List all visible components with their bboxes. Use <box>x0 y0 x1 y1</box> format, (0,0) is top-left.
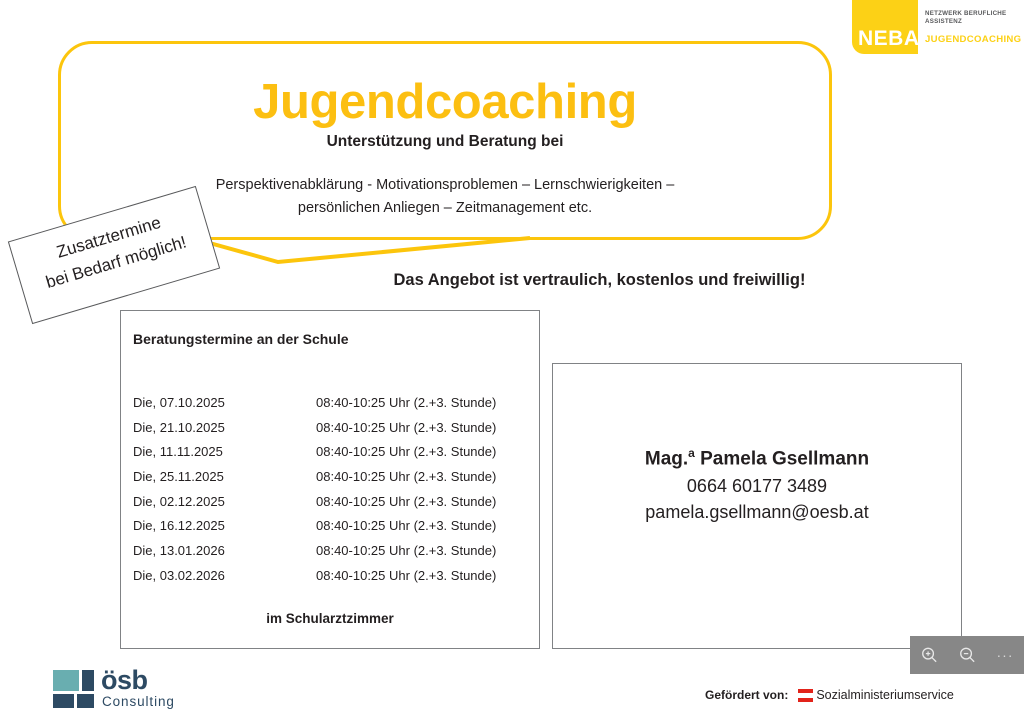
funding-org-name: Sozialministeriumservice <box>816 688 954 702</box>
more-options-button[interactable]: ··· <box>986 636 1024 674</box>
appointment-day: Die, 11.11.2025 <box>121 444 316 459</box>
document-page: NEBA NETZWERK BERUFLICHE ASSISTENZ JUGEN… <box>0 0 1024 716</box>
osb-square-navy-bottom-right <box>77 694 94 708</box>
osb-square-navy-top-right <box>82 670 94 691</box>
appointment-day: Die, 07.10.2025 <box>121 395 316 410</box>
appointment-time: 08:40-10:25 Uhr (2.+3. Stunde) <box>316 420 539 435</box>
appointment-time: 08:40-10:25 Uhr (2.+3. Stunde) <box>316 395 539 410</box>
table-row: Die, 21.10.2025 08:40-10:25 Uhr (2.+3. S… <box>121 415 539 440</box>
funding-notice: Gefördert von: Sozialministeriumservice <box>705 688 954 702</box>
appointment-time: 08:40-10:25 Uhr (2.+3. Stunde) <box>316 444 539 459</box>
appointments-title: Beratungstermine an der Schule <box>133 331 349 347</box>
contact-box: Mag.a Pamela Gsellmann 0664 60177 3489 p… <box>552 363 962 649</box>
neba-program-label: JUGENDCOACHING <box>925 35 1024 45</box>
osb-square-teal <box>53 670 79 691</box>
appointment-day: Die, 25.11.2025 <box>121 469 316 484</box>
contact-details: Mag.a Pamela Gsellmann 0664 60177 3489 p… <box>553 445 961 525</box>
appointment-time: 08:40-10:25 Uhr (2.+3. Stunde) <box>316 494 539 509</box>
contact-name-prefix: Mag. <box>645 448 688 469</box>
contact-name-main: Pamela Gsellmann <box>695 448 869 469</box>
osb-squares-icon <box>53 670 94 708</box>
appointment-day: Die, 03.02.2026 <box>121 568 316 583</box>
appointment-time: 08:40-10:25 Uhr (2.+3. Stunde) <box>316 543 539 558</box>
offer-tagline: Das Angebot ist vertraulich, kostenlos u… <box>0 271 1024 290</box>
contact-email: pamela.gsellmann@oesb.at <box>553 500 961 524</box>
appointment-time: 08:40-10:25 Uhr (2.+3. Stunde) <box>316 469 539 484</box>
osb-consulting-logo: ösb Consulting <box>53 667 183 716</box>
more-options-icon: ··· <box>997 648 1014 662</box>
zoom-in-button[interactable] <box>910 636 948 674</box>
table-row: Die, 16.12.2025 08:40-10:25 Uhr (2.+3. S… <box>121 513 539 538</box>
appointment-day: Die, 16.12.2025 <box>121 518 316 533</box>
table-row: Die, 02.12.2025 08:40-10:25 Uhr (2.+3. S… <box>121 489 539 514</box>
appointments-list: Die, 07.10.2025 08:40-10:25 Uhr (2.+3. S… <box>121 390 539 588</box>
osb-square-navy-bottom-left <box>53 694 74 708</box>
zoom-out-icon <box>958 646 977 665</box>
contact-name-superscript: a <box>688 446 695 460</box>
neba-network-line-1: NETZWERK BERUFLICHE <box>925 10 1024 18</box>
hero-topics-line-2: persönlichen Anliegen – Zeitmanagement e… <box>298 200 592 216</box>
contact-name: Mag.a Pamela Gsellmann <box>553 445 961 472</box>
table-row: Die, 07.10.2025 08:40-10:25 Uhr (2.+3. S… <box>121 390 539 415</box>
table-row: Die, 13.01.2026 08:40-10:25 Uhr (2.+3. S… <box>121 538 539 563</box>
funding-label: Gefördert von: <box>705 688 788 702</box>
appointment-day: Die, 02.12.2025 <box>121 494 316 509</box>
appointment-time: 08:40-10:25 Uhr (2.+3. Stunde) <box>316 568 539 583</box>
hero-subtitle: Unterstützung und Beratung bei <box>58 133 832 151</box>
hero-topics-line-1: Perspektivenabklärung - Motivationsprobl… <box>216 177 675 193</box>
appointment-time: 08:40-10:25 Uhr (2.+3. Stunde) <box>316 518 539 533</box>
page-title: Jugendcoaching <box>58 77 832 128</box>
viewer-toolbar: ··· <box>910 636 1024 674</box>
appointments-location: im Schularztzimmer <box>121 611 539 626</box>
appointment-day: Die, 13.01.2026 <box>121 543 316 558</box>
table-row: Die, 03.02.2026 08:40-10:25 Uhr (2.+3. S… <box>121 563 539 588</box>
appointments-box: Beratungstermine an der Schule Die, 07.1… <box>120 310 540 649</box>
austria-flag-icon <box>798 689 813 702</box>
zoom-in-icon <box>920 646 939 665</box>
appointment-day: Die, 21.10.2025 <box>121 420 316 435</box>
funding-org-block: Sozialministeriumservice <box>798 688 954 702</box>
table-row: Die, 11.11.2025 08:40-10:25 Uhr (2.+3. S… <box>121 439 539 464</box>
neba-logo-mark: NEBA <box>852 0 918 54</box>
table-row: Die, 25.11.2025 08:40-10:25 Uhr (2.+3. S… <box>121 464 539 489</box>
contact-phone: 0664 60177 3489 <box>553 474 961 498</box>
zoom-out-button[interactable] <box>948 636 986 674</box>
neba-wordmark: NEBA <box>858 28 914 49</box>
neba-logo-text: NETZWERK BERUFLICHE ASSISTENZ JUGENDCOAC… <box>925 10 1024 45</box>
osb-subtitle: Consulting <box>102 695 175 709</box>
osb-wordmark: ösb <box>101 667 148 694</box>
neba-network-line-2: ASSISTENZ <box>925 18 1024 26</box>
